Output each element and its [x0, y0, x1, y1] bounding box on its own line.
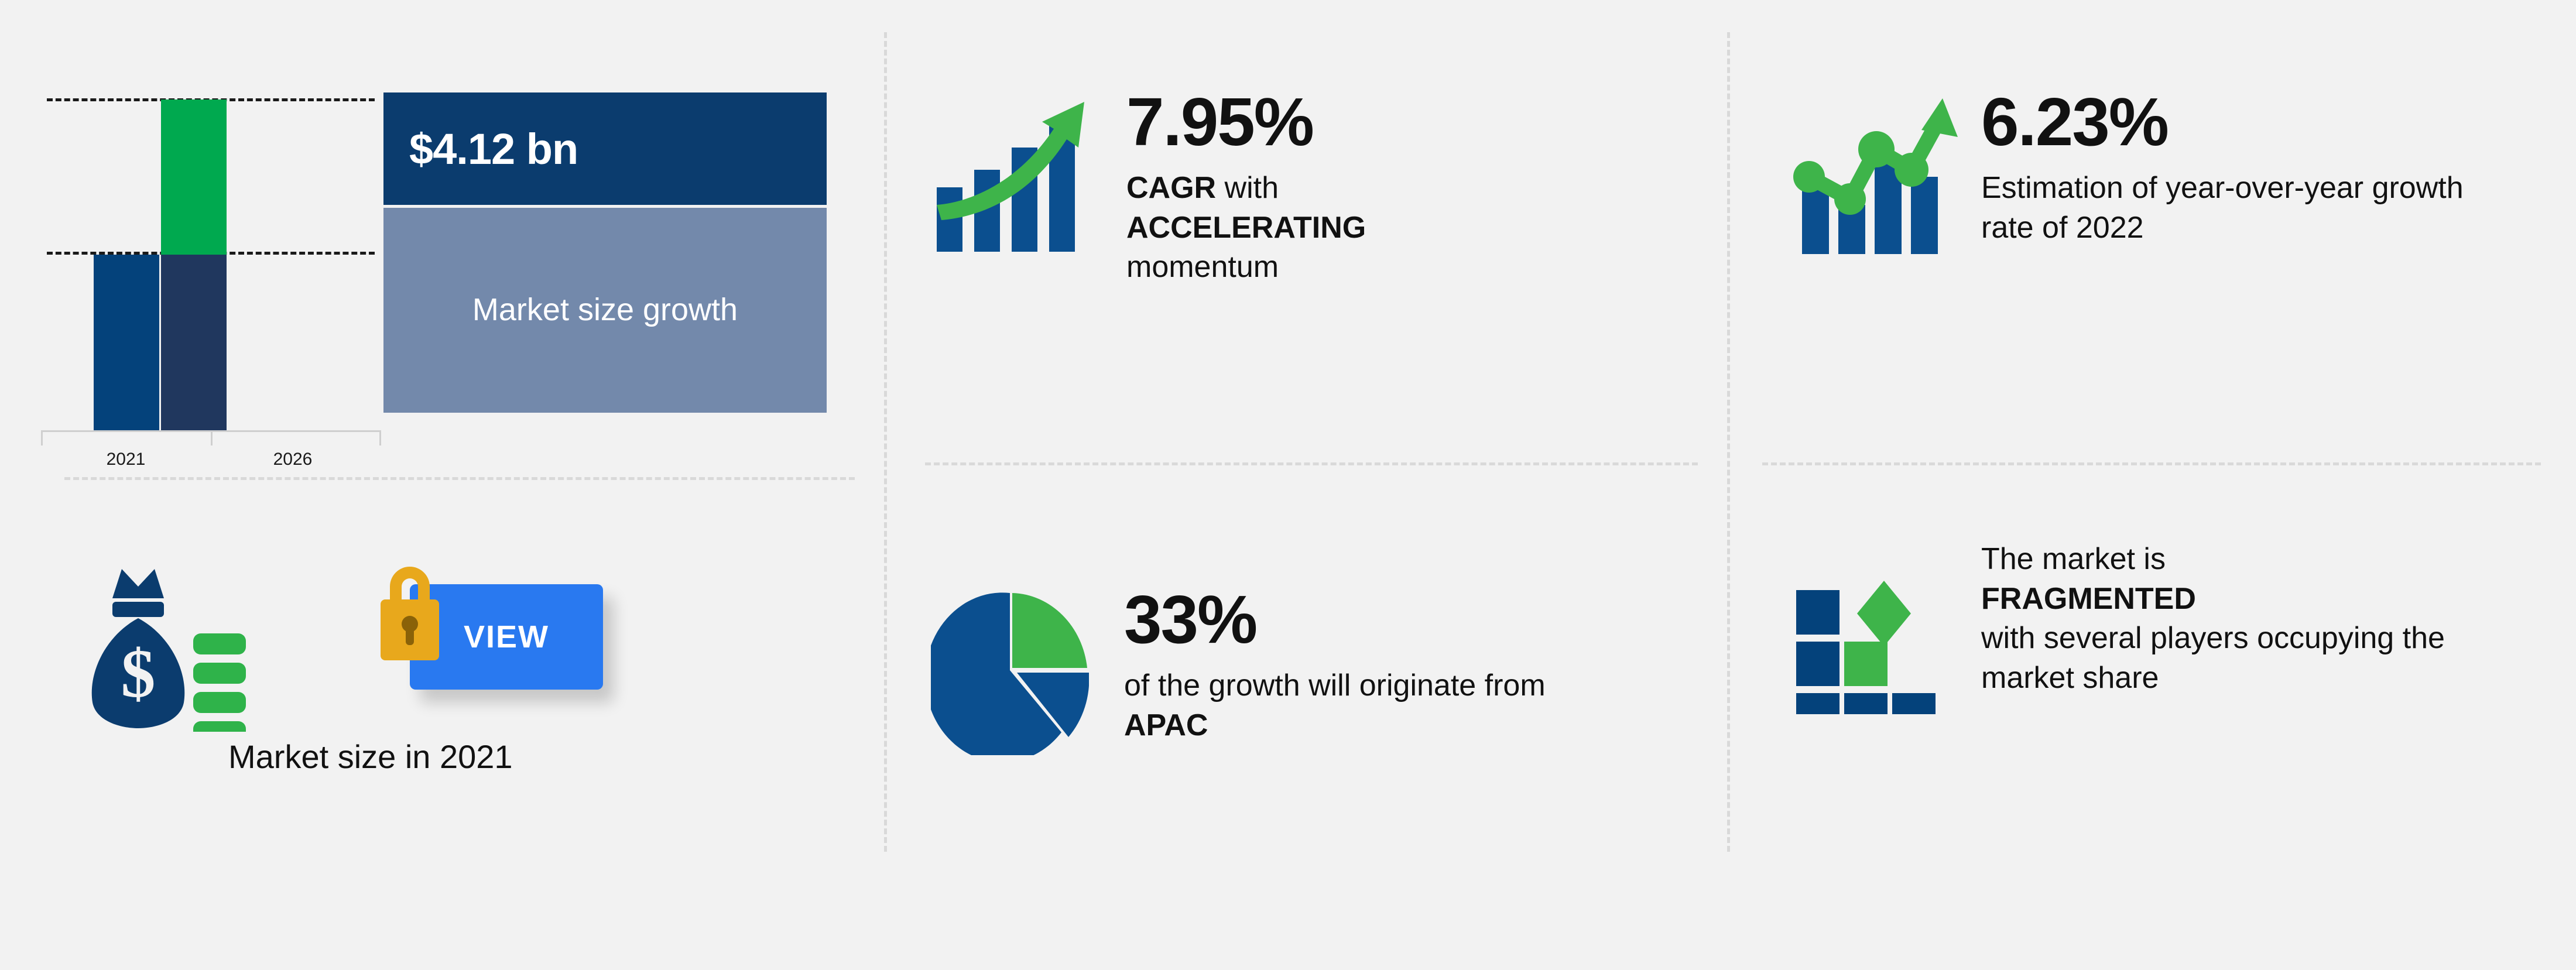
callout-value-bar: $4.12 bn: [383, 92, 827, 205]
market-size-growth-panel: 2021 2026 $4.12 bn Market size growth: [0, 59, 855, 457]
apac-description: of the growth will originate from APAC: [1124, 666, 1546, 745]
cagr-emphasis: ACCELERATING: [1126, 211, 1366, 245]
apac-emphasis: APAC: [1124, 708, 1208, 742]
market-size-2021-panel: $ VIEW Market size in 2021: [35, 562, 855, 843]
apac-desc-text: of the growth will originate from: [1124, 669, 1546, 702]
market-size-callout: $4.12 bn Market size growth: [383, 92, 827, 413]
market-size-bar-chart: 2021 2026: [35, 59, 398, 421]
x-axis-tick-end: [379, 430, 381, 445]
pie-chart-icon: [931, 585, 1089, 758]
callout-caption-bar: Market size growth: [383, 208, 827, 413]
callout-caption: Market size growth: [472, 290, 738, 330]
bar-2021: [94, 255, 159, 430]
market-share-blocks-icon: [1791, 544, 1961, 717]
cagr-label: CAGR: [1126, 171, 1216, 205]
cagr-text-block: 7.95% CAGR with ACCELERATING momentum: [1126, 88, 1366, 287]
apac-panel: 33% of the growth will originate from AP…: [931, 585, 1546, 758]
vertical-divider-right: [1727, 32, 1730, 852]
growth-bars-arrow-icon: [931, 88, 1107, 266]
x-axis-label-2021: 2021: [79, 450, 173, 469]
fragmented-panel: The market is FRAGMENTED with several pl…: [1791, 544, 2496, 717]
x-axis-label-2026: 2026: [246, 450, 340, 469]
yoy-growth-panel: 6.23% Estimation of year-over-year growt…: [1791, 88, 2496, 261]
fragmented-description: The market is FRAGMENTED with several pl…: [1981, 540, 2496, 698]
view-button-label: VIEW: [464, 619, 549, 655]
yoy-description: Estimation of year-over-year growth rate…: [1981, 169, 2496, 248]
cagr-with: with: [1216, 171, 1279, 205]
apac-text-block: 33% of the growth will originate from AP…: [1124, 585, 1546, 745]
fragmented-line1: The market is: [1981, 542, 2166, 576]
cagr-momentum: momentum: [1126, 250, 1279, 284]
bar-2026-base: [161, 255, 227, 430]
yoy-text-block: 6.23% Estimation of year-over-year growt…: [1981, 88, 2496, 248]
callout-value: $4.12 bn: [409, 124, 578, 174]
fragmented-text-block: The market is FRAGMENTED with several pl…: [1981, 540, 2496, 698]
cagr-panel: 7.95% CAGR with ACCELERATING momentum: [931, 88, 1366, 287]
lock-icon: [363, 556, 457, 667]
market-size-2021-caption: Market size in 2021: [228, 738, 755, 776]
infographic-grid: 2021 2026 $4.12 bn Market size growth: [0, 0, 2576, 970]
cagr-description: CAGR with ACCELERATING momentum: [1126, 169, 1366, 287]
vertical-divider-left: [884, 32, 887, 852]
bar-2026-growth-segment: [161, 100, 227, 255]
horizontal-divider-column-3: [1762, 462, 2541, 465]
money-bag-icon: $: [76, 562, 252, 735]
fragmented-line2: with several players occupying the marke…: [1981, 621, 2445, 695]
apac-value: 33%: [1124, 585, 1546, 653]
view-button-group[interactable]: VIEW: [363, 556, 609, 714]
cagr-value: 7.95%: [1126, 88, 1366, 156]
svg-text:$: $: [121, 635, 156, 712]
horizontal-divider-column-1: [64, 477, 855, 480]
x-axis-tick-middle: [211, 430, 213, 445]
yoy-value: 6.23%: [1981, 88, 2496, 156]
callout-arrow-icon: [224, 188, 224, 189]
x-axis-tick-start: [41, 430, 43, 445]
horizontal-divider-column-2: [925, 462, 1698, 465]
line-chart-arrow-icon: [1791, 88, 1961, 261]
fragmented-emphasis: FRAGMENTED: [1981, 582, 2196, 616]
